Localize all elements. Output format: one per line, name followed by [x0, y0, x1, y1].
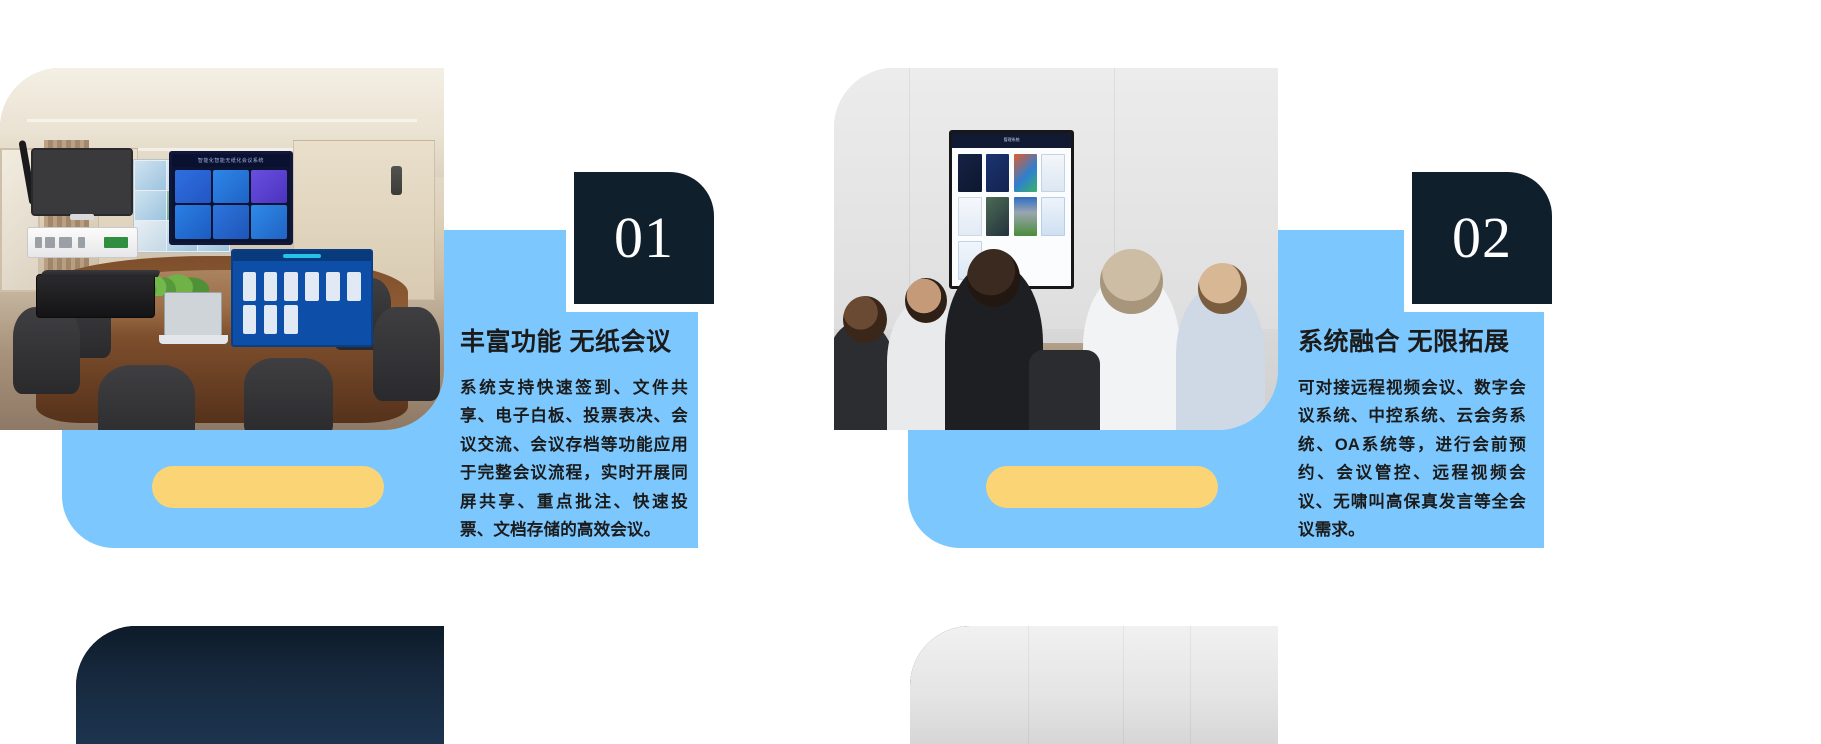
card-02-text-block: 系统融合 无限拓展 可对接远程视频会议、数字会议系统、中控系统、云会务系统、OA… [1298, 322, 1526, 544]
card-01-text-block: 丰富功能 无纸会议 系统支持快速签到、文件共享、电子白板、投票表决、会议交流、会… [460, 322, 688, 544]
card-01-number-badge: 01 [574, 172, 714, 304]
card-02-title: 系统融合 无限拓展 [1298, 322, 1526, 358]
next-row-card-01-photo [76, 626, 444, 744]
card-01-cta-button[interactable] [152, 466, 384, 508]
card-01-photo: 智能化智能无纸化会议系统 [0, 68, 444, 430]
card-01-device-host [36, 274, 156, 317]
feature-card-02: 管理系统 02 [834, 0, 1594, 620]
card-02-photo: 管理系统 [834, 68, 1278, 430]
card-01-number: 01 [614, 209, 674, 267]
card-01-device-matrix [27, 227, 138, 258]
card-02-number-badge: 02 [1412, 172, 1552, 304]
card-01-screen-title: 智能化智能无纸化会议系统 [198, 157, 264, 164]
card-02-screen-title: 管理系统 [1004, 137, 1020, 143]
page-root: 智能化智能无纸化会议系统 [0, 0, 1821, 744]
card-01-device-monitor [31, 148, 133, 217]
card-01-photo-main-screen: 智能化智能无纸化会议系统 [169, 151, 293, 245]
card-02-description: 可对接远程视频会议、数字会议系统、中控系统、云会务系统、OA系统等，进行会前预约… [1298, 374, 1526, 544]
card-01-title: 丰富功能 无纸会议 [460, 322, 688, 358]
next-row-card-02-photo [910, 626, 1278, 744]
feature-card-01: 智能化智能无纸化会议系统 [0, 0, 760, 620]
card-01-description: 系统支持快速签到、文件共享、电子白板、投票表决、会议交流、会议存档等功能应用于完… [460, 374, 688, 544]
card-02-number: 02 [1452, 209, 1512, 267]
card-01-device-terminal [231, 249, 373, 347]
card-02-cta-button[interactable] [986, 466, 1218, 508]
card-01-device-laptop [164, 292, 222, 335]
